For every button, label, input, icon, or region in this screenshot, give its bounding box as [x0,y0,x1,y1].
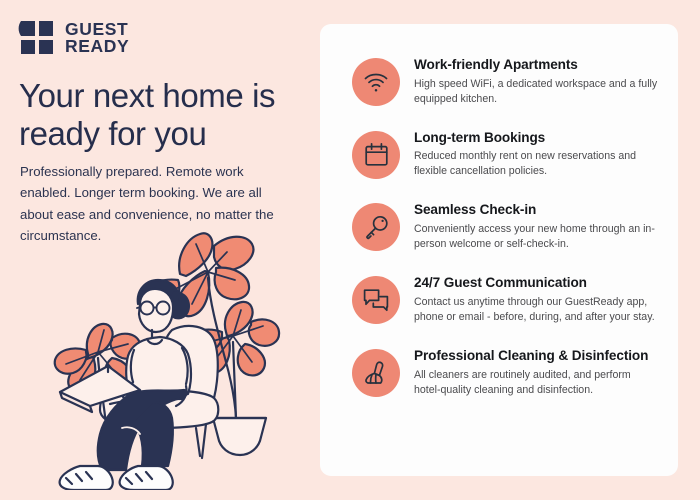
wifi-icon-circle [352,58,400,106]
feature-item-work-friendly-apartments[interactable]: Work-friendly Apartments High speed WiFi… [320,55,678,107]
broom-icon [363,360,389,386]
feature-item-guest-communication[interactable]: 24/7 Guest Communication Contact us anyt… [320,273,678,325]
key-icon-circle [352,203,400,251]
hero-illustration [30,222,320,490]
feature-item-seamless-check-in[interactable]: Seamless Check-in Conveniently access yo… [320,200,678,252]
left-column: GUEST READY Your next home is ready for … [0,0,320,500]
wifi-icon [363,71,389,93]
calendar-icon [364,142,389,167]
feature-description: Conveniently access your new home throug… [414,222,659,252]
feature-title: 24/7 Guest Communication [414,274,659,292]
calendar-icon-circle [352,131,400,179]
brand-wordmark: GUEST READY [65,21,129,55]
feature-description: High speed WiFi, a dedicated workspace a… [414,77,659,107]
feature-title: Seamless Check-in [414,201,659,219]
plant-pot [213,418,266,455]
feature-item-professional-cleaning[interactable]: Professional Cleaning & Disinfection All… [320,346,678,398]
chat-bubbles-icon [363,288,389,312]
key-icon [364,215,389,240]
page-headline: Your next home is ready for you [19,77,309,154]
brand-logo[interactable]: GUEST READY [18,19,129,57]
feature-title: Work-friendly Apartments [414,56,659,74]
feature-list: Work-friendly Apartments High speed WiFi… [320,24,678,398]
guestready-square-mark [18,19,56,57]
feature-text: 24/7 Guest Communication Contact us anyt… [414,273,659,325]
feature-text: Work-friendly Apartments High speed WiFi… [414,55,659,107]
feature-title: Long-term Bookings [414,129,659,147]
feature-text: Long-term Bookings Reduced monthly rent … [414,128,659,180]
person-with-laptop [60,280,191,490]
feature-title: Professional Cleaning & Disinfection [414,347,659,365]
feature-text: Professional Cleaning & Disinfection All… [414,346,659,398]
feature-description: All cleaners are routinely audited, and … [414,368,659,398]
feature-item-long-term-bookings[interactable]: Long-term Bookings Reduced monthly rent … [320,128,678,180]
brand-line-2: READY [65,38,129,55]
chat-bubbles-icon-circle [352,276,400,324]
feature-description: Contact us anytime through our GuestRead… [414,295,659,325]
features-panel: Work-friendly Apartments High speed WiFi… [320,24,678,476]
broom-icon-circle [352,349,400,397]
feature-description: Reduced monthly rent on new reservations… [414,149,659,179]
feature-text: Seamless Check-in Conveniently access yo… [414,200,659,252]
